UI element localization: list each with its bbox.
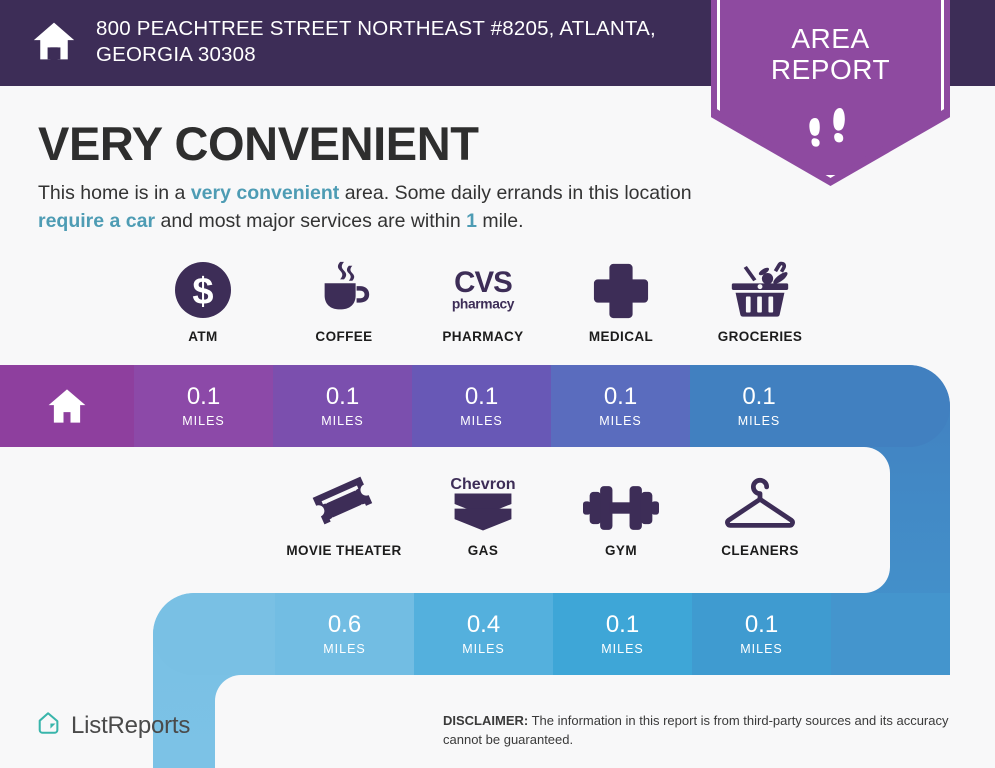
home-icon	[46, 385, 88, 427]
bar-cell-atm: 0.1 MILES	[134, 365, 273, 447]
subtitle-highlight-3: 1	[466, 210, 477, 232]
amenity-coffee: COFFEE	[275, 258, 413, 344]
bar-cell-gas-unit: MILES	[462, 642, 505, 656]
subtitle-part-1: This home is in a	[38, 182, 191, 204]
amenity-coffee-label: COFFEE	[275, 329, 413, 344]
bar-cell-gas-distance: 0.4	[467, 613, 500, 637]
distance-snake-bar: 0.1 MILES 0.1 MILES 0.1 MILES 0.1 MILES …	[0, 365, 995, 768]
cvs-pharmacy-logo: CVS pharmacy	[414, 258, 552, 320]
amenity-groceries-label: GROCERIES	[691, 329, 829, 344]
medical-cross-icon	[552, 258, 690, 320]
subtitle-part-4: mile.	[477, 210, 524, 232]
amenity-atm: $ ATM	[134, 258, 272, 344]
badge-line-2: REPORT	[711, 54, 950, 85]
bar-cell-movie-theater-distance: 0.6	[328, 613, 361, 637]
page-title: VERY CONVENIENT	[38, 116, 479, 171]
bar-cell-groceries-distance: 0.1	[742, 385, 775, 409]
distance-bar-row-1: 0.1 MILES 0.1 MILES 0.1 MILES 0.1 MILES …	[0, 365, 950, 447]
bar-connector-left-mask	[215, 675, 277, 768]
bar-cell-medical: 0.1 MILES	[551, 365, 690, 447]
amenity-medical: MEDICAL	[552, 258, 690, 344]
property-address: 800 Peachtree Street Northeast #8205, At…	[96, 16, 686, 68]
bar-cell-coffee-unit: MILES	[321, 414, 364, 428]
subtitle-highlight-2: require a car	[38, 210, 155, 232]
bar-cell-tail-right	[828, 365, 950, 447]
area-report-badge-text: AREA REPORT	[711, 23, 950, 86]
listreports-logo-text: ListReports	[71, 712, 190, 740]
bar-cell-pharmacy: 0.1 MILES	[412, 365, 551, 447]
badge-line-1: AREA	[711, 23, 950, 54]
bar-cell-cleaners: 0.1 MILES	[692, 593, 831, 675]
bar-cell-gym-unit: MILES	[601, 642, 644, 656]
bar-cell-movie-theater-unit: MILES	[323, 642, 366, 656]
bar-cell-medical-unit: MILES	[599, 414, 642, 428]
bar-cell-tail-row2	[831, 593, 950, 675]
svg-text:pharmacy: pharmacy	[452, 296, 515, 311]
bar-cell-cleaners-unit: MILES	[740, 642, 783, 656]
grocery-basket-icon	[691, 258, 829, 320]
amenity-pharmacy: CVS pharmacy PHARMACY	[414, 258, 552, 344]
dollar-circle-icon: $	[134, 258, 272, 320]
amenity-pharmacy-label: PHARMACY	[414, 329, 552, 344]
amenity-atm-label: ATM	[134, 329, 272, 344]
bar-cell-coffee-distance: 0.1	[326, 385, 359, 409]
page-subtitle: This home is in a very convenient area. …	[38, 180, 708, 235]
bar-cell-gym-distance: 0.1	[606, 613, 639, 637]
svg-text:$: $	[192, 271, 213, 313]
listreports-logo[interactable]: ListReports	[36, 710, 190, 741]
bar-cell-coffee: 0.1 MILES	[273, 365, 412, 447]
distance-bar-row-2: 0.6 MILES 0.4 MILES 0.1 MILES 0.1 MILES	[153, 593, 950, 675]
bar-cell-home	[0, 365, 134, 447]
disclaimer-label: DISCLAIMER:	[443, 713, 528, 728]
bar-connector-right-mask	[828, 447, 890, 593]
listreports-house-tag-icon	[36, 710, 62, 741]
subtitle-part-2: area. Some daily errands in this locatio…	[339, 182, 691, 204]
footprints-icon	[711, 96, 950, 163]
bar-cell-cleaners-distance: 0.1	[745, 613, 778, 637]
bar-cell-groceries-unit: MILES	[738, 414, 781, 428]
bar-cell-pharmacy-distance: 0.1	[465, 385, 498, 409]
subtitle-part-3: and most major services are within	[155, 210, 466, 232]
bar-cell-atm-unit: MILES	[182, 414, 225, 428]
bar-cell-medical-distance: 0.1	[604, 385, 637, 409]
bar-cell-groceries: 0.1 MILES	[690, 365, 828, 447]
amenity-groceries: GROCERIES	[691, 258, 829, 344]
bar-cell-movie-theater: 0.6 MILES	[275, 593, 414, 675]
bar-cell-pharmacy-unit: MILES	[460, 414, 503, 428]
svg-text:CVS: CVS	[454, 266, 512, 299]
amenity-medical-label: MEDICAL	[552, 329, 690, 344]
home-icon	[32, 19, 76, 68]
bar-cell-head-left	[153, 593, 275, 675]
coffee-cup-icon	[275, 258, 413, 320]
disclaimer: DISCLAIMER: The information in this repo…	[443, 712, 978, 750]
bar-cell-gym: 0.1 MILES	[553, 593, 692, 675]
bar-cell-atm-distance: 0.1	[187, 385, 220, 409]
subtitle-highlight-1: very convenient	[191, 182, 339, 204]
bar-cell-gas: 0.4 MILES	[414, 593, 553, 675]
area-report-infographic: 800 Peachtree Street Northeast #8205, At…	[0, 0, 995, 768]
header-content: 800 Peachtree Street Northeast #8205, At…	[32, 16, 692, 68]
